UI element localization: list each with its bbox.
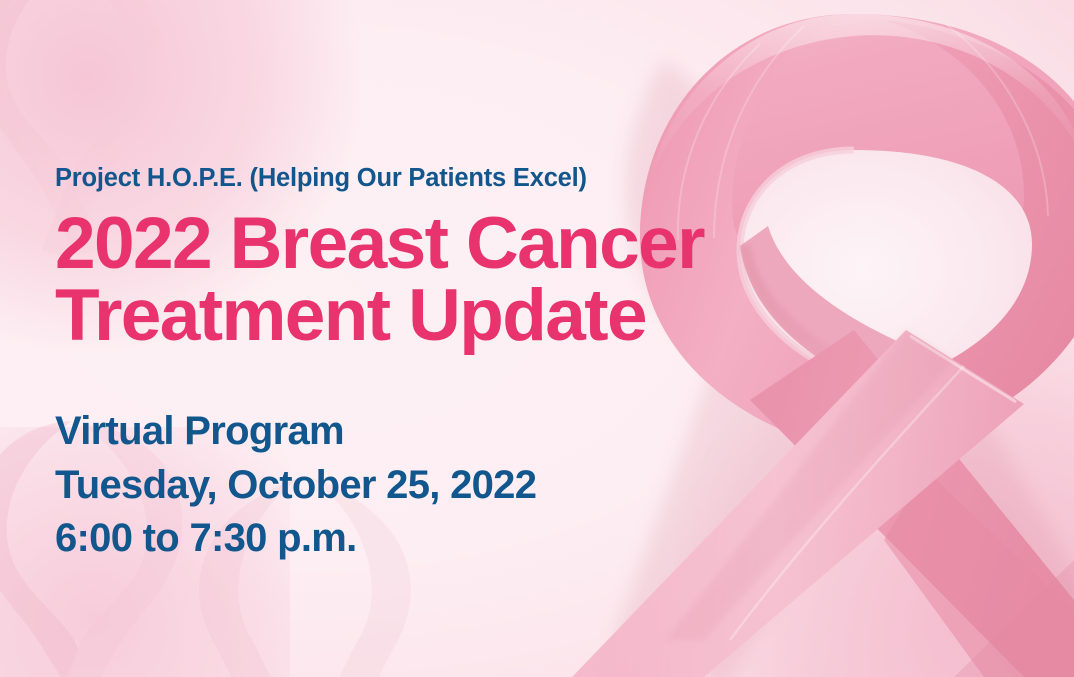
poster-canvas: Project H.O.P.E. (Helping Our Patients E… — [0, 0, 1074, 677]
event-format: Virtual Program — [55, 405, 536, 459]
event-time: 6:00 to 7:30 p.m. — [55, 512, 536, 566]
page-title: 2022 Breast Cancer Treatment Update — [55, 208, 885, 353]
program-series-label: Project H.O.P.E. (Helping Our Patients E… — [55, 164, 587, 193]
page-title-line-2: Treatment Update — [55, 280, 885, 352]
event-date: Tuesday, October 25, 2022 — [55, 459, 536, 513]
poster-text-block: Project H.O.P.E. (Helping Our Patients E… — [55, 0, 875, 677]
page-title-line-1: 2022 Breast Cancer — [55, 203, 704, 284]
event-details: Virtual Program Tuesday, October 25, 202… — [55, 405, 536, 566]
